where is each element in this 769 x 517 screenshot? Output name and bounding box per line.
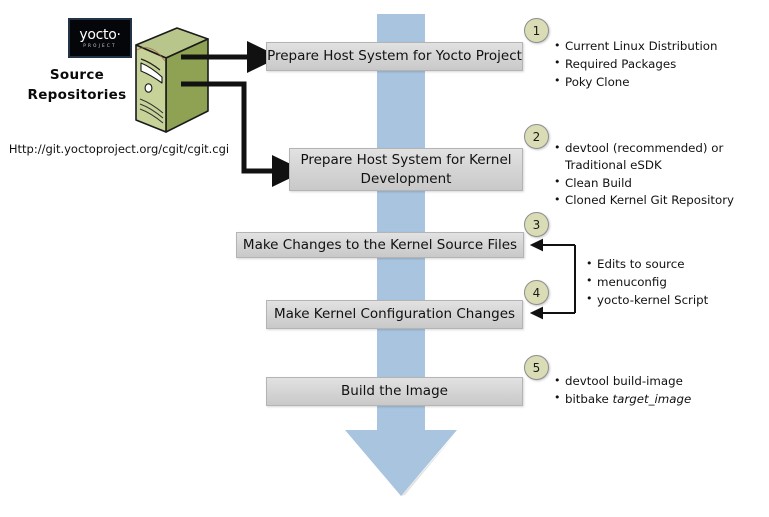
list-item-continuation: Traditional eSDK	[565, 157, 766, 174]
logo-subtitle: PROJECT	[83, 44, 117, 48]
source-repositories-url: Http://git.yoctoproject.org/cgit/cgit.cg…	[4, 142, 234, 156]
step-box-kernel-line1: Prepare Host System for Kernel	[300, 151, 511, 169]
list-item: Cloned Kernel Git Repository	[554, 192, 766, 209]
source-repositories-label-line2: Repositories	[18, 85, 136, 105]
logo-wordmark: yocto·	[79, 28, 120, 42]
step-notes-2: devtool (recommended) or Traditional eSD…	[554, 140, 766, 210]
list-item: Edits to source	[586, 256, 766, 273]
step-notes-5: devtool build-image bitbake target_image	[554, 373, 764, 409]
step-box-make-source-changes[interactable]: Make Changes to the Kernel Source Files	[236, 232, 524, 258]
step-number-2: 2	[524, 124, 549, 149]
diagram-canvas: yocto· PROJECT Source Repositories Http:…	[0, 0, 769, 517]
list-item: Clean Build	[554, 175, 766, 192]
server-icon	[133, 25, 211, 140]
list-item: Poky Clone	[554, 74, 764, 91]
step-number-3: 3	[524, 212, 549, 237]
step-notes-3-4-shared: Edits to source menuconfig yocto-kernel …	[586, 256, 766, 309]
list-item: yocto-kernel Script	[586, 292, 766, 309]
step-number-1: 1	[524, 18, 549, 43]
list-item-emphasis: target_image	[613, 392, 692, 406]
list-item: bitbake target_image	[554, 391, 764, 408]
list-item: Current Linux Distribution	[554, 38, 764, 55]
step-box-build-image[interactable]: Build the Image	[266, 377, 523, 406]
list-item: menuconfig	[586, 274, 766, 291]
step-box-kernel-line2: Development	[300, 170, 511, 188]
step-box-prepare-host-kernel[interactable]: Prepare Host System for Kernel Developme…	[289, 148, 523, 191]
step-number-4: 4	[524, 280, 549, 305]
step-number-5: 5	[524, 355, 549, 380]
source-repositories-label-line1: Source	[18, 65, 136, 85]
step-notes-1: Current Linux Distribution Required Pack…	[554, 38, 764, 91]
source-repositories-label: Source Repositories	[18, 65, 136, 106]
yocto-project-logo: yocto· PROJECT	[68, 18, 132, 58]
connector-feedback-loop-step3-step4	[541, 245, 575, 313]
step-box-make-config-changes[interactable]: Make Kernel Configuration Changes	[266, 300, 523, 329]
list-item: Required Packages	[554, 56, 764, 73]
step-box-prepare-host-yocto[interactable]: Prepare Host System for Yocto Project	[266, 42, 523, 71]
list-item: devtool (recommended) or Traditional eSD…	[554, 140, 766, 174]
list-item: devtool build-image	[554, 373, 764, 390]
